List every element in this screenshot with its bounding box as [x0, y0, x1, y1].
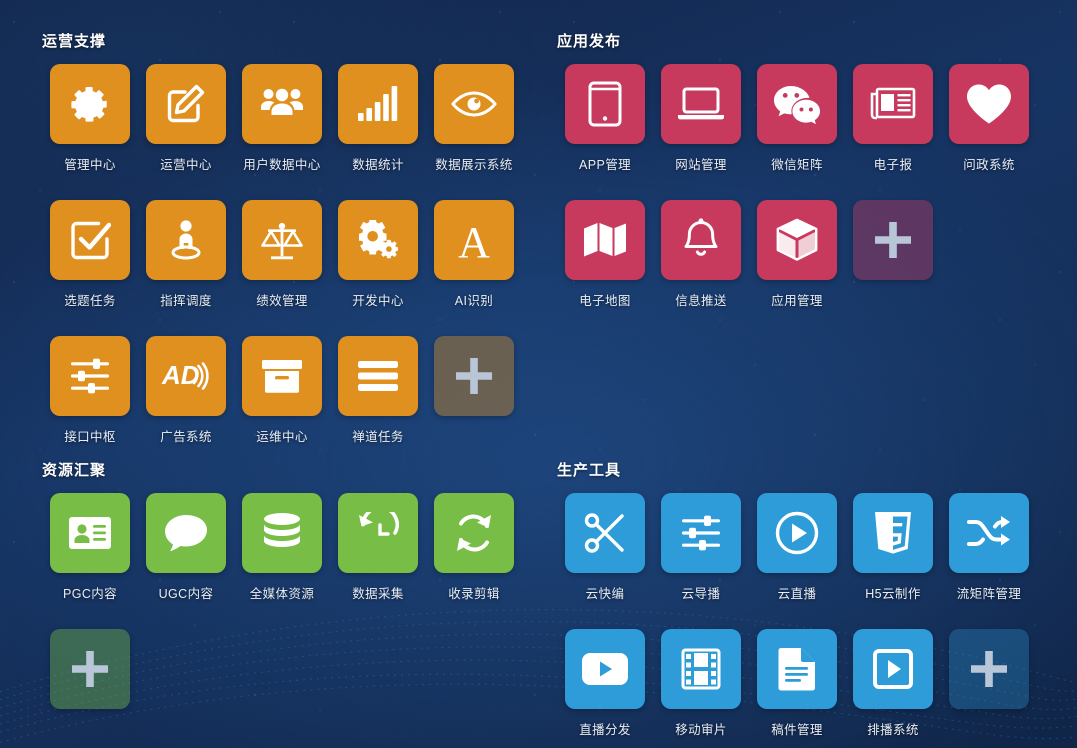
tile-icon-box[interactable] [242, 493, 322, 573]
play-square-icon [872, 648, 914, 690]
app-tile-稿件管理[interactable]: 稿件管理 [749, 629, 845, 738]
tile-icon-box[interactable] [242, 336, 322, 416]
tile-label: 流矩阵管理 [957, 583, 1022, 602]
tile-icon-box[interactable] [50, 629, 130, 709]
sliders-icon [680, 514, 722, 552]
tile-icon-box[interactable] [853, 493, 933, 573]
app-tile-信息推送[interactable]: 信息推送 [653, 200, 749, 309]
tile-icon-box[interactable] [949, 629, 1029, 709]
tile-icon-box[interactable] [757, 493, 837, 573]
tile-icon-box[interactable] [338, 336, 418, 416]
tile-label: 移动审片 [675, 719, 727, 738]
tile-icon-box[interactable] [146, 200, 226, 280]
balance-scale-icon [260, 220, 304, 260]
tile-icon-box[interactable] [50, 493, 130, 573]
tile-icon-box[interactable] [565, 493, 645, 573]
tile-icon-box[interactable] [338, 64, 418, 144]
section-operations-support: 运营支撑管理中心运营中心用户数据中心数据统计数据展示系统选题任务指挥调度绩效管理… [42, 30, 522, 472]
document-icon [778, 647, 816, 691]
eye-icon [451, 88, 497, 120]
users-group-icon [261, 85, 303, 123]
app-tile-流矩阵管理[interactable]: 流矩阵管理 [941, 493, 1037, 602]
tile-label: 选题任务 [64, 290, 116, 309]
tile-label: 微信矩阵 [771, 154, 823, 173]
app-tile-移动审片[interactable]: 移动审片 [653, 629, 749, 738]
app-tile-直播分发[interactable]: 直播分发 [557, 629, 653, 738]
svg-text:A: A [458, 218, 490, 264]
tile-label: AI识别 [455, 290, 493, 309]
person-location-icon [168, 219, 204, 261]
app-tile-禅道任务[interactable]: 禅道任务 [330, 336, 426, 445]
app-tile-add[interactable] [42, 629, 138, 709]
section-title: 资源汇聚 [42, 459, 522, 480]
tile-grid: APP管理网站管理微信矩阵电子报问政系统电子地图信息推送应用管理 [557, 64, 1037, 336]
section-app-publishing: 应用发布APP管理网站管理微信矩阵电子报问政系统电子地图信息推送应用管理 [557, 30, 1037, 336]
gear-icon [70, 84, 110, 124]
tile-icon-box[interactable] [949, 493, 1029, 573]
tile-icon-box[interactable] [434, 493, 514, 573]
app-tile-数据采集[interactable]: 数据采集 [330, 493, 426, 602]
tile-icon-box[interactable] [853, 200, 933, 280]
tile-icon-box[interactable] [853, 64, 933, 144]
tile-icon-box[interactable] [50, 64, 130, 144]
play-circle-icon [775, 511, 819, 555]
app-tile-微信矩阵[interactable]: 微信矩阵 [749, 64, 845, 173]
plus-icon [969, 649, 1009, 689]
sliders-icon [69, 357, 111, 395]
tile-icon-box[interactable] [661, 64, 741, 144]
tile-icon-box[interactable] [565, 629, 645, 709]
app-tile-广告系统[interactable]: AD广告系统 [138, 336, 234, 445]
app-tile-全媒体资源[interactable]: 全媒体资源 [234, 493, 330, 602]
app-tile-问政系统[interactable]: 问政系统 [941, 64, 1037, 173]
app-tile-应用管理[interactable]: 应用管理 [749, 200, 845, 309]
app-tile-UGC内容[interactable]: UGC内容 [138, 493, 234, 602]
tile-label: 应用管理 [771, 290, 823, 309]
menu-lines-icon [357, 360, 399, 392]
section-production-tools: 生产工具云快编云导播云直播H5云制作流矩阵管理直播分发移动审片稿件管理排播系统 [557, 459, 1037, 748]
heart-icon [966, 83, 1012, 125]
tile-icon-box[interactable] [434, 336, 514, 416]
html5-icon [874, 511, 912, 555]
check-square-icon [69, 219, 111, 261]
database-icon [262, 512, 302, 554]
tile-icon-box[interactable] [661, 493, 741, 573]
newspaper-icon [870, 87, 916, 121]
tile-label: 管理中心 [64, 154, 116, 173]
app-tile-云导播[interactable]: 云导播 [653, 493, 749, 602]
tile-label: 直播分发 [579, 719, 631, 738]
laptop-icon [677, 86, 725, 122]
film-strip-icon [681, 648, 721, 690]
scissors-icon [584, 512, 626, 554]
tile-icon-box[interactable] [338, 493, 418, 573]
tile-icon-box[interactable]: A [434, 200, 514, 280]
tile-label: 云快编 [586, 583, 625, 602]
svg-text:AD: AD [161, 361, 200, 390]
tile-label: 开发中心 [352, 290, 404, 309]
tile-icon-box[interactable] [338, 200, 418, 280]
sync-refresh-icon [453, 512, 495, 554]
app-tile-用户数据中心[interactable]: 用户数据中心 [234, 64, 330, 173]
tile-label: 接口中枢 [64, 426, 116, 445]
tile-icon-box[interactable] [757, 64, 837, 144]
tile-label: 收录剪辑 [448, 583, 500, 602]
tile-grid: 管理中心运营中心用户数据中心数据统计数据展示系统选题任务指挥调度绩效管理开发中心… [42, 64, 522, 472]
archive-box-icon [261, 357, 303, 395]
app-tile-数据展示系统[interactable]: 数据展示系统 [426, 64, 522, 173]
app-tile-运维中心[interactable]: 运维中心 [234, 336, 330, 445]
tile-label: PGC内容 [63, 583, 117, 602]
app-tile-网站管理[interactable]: 网站管理 [653, 64, 749, 173]
tile-label: 数据展示系统 [435, 154, 512, 173]
tile-label: APP管理 [579, 154, 631, 173]
tile-label: 禅道任务 [352, 426, 404, 445]
tile-label: 数据统计 [352, 154, 404, 173]
section-resource-aggregation: 资源汇聚PGC内容UGC内容全媒体资源数据采集收录剪辑 [42, 459, 522, 736]
plus-icon [454, 356, 494, 396]
app-tile-电子地图[interactable]: 电子地图 [557, 200, 653, 309]
tile-label: 全媒体资源 [250, 583, 315, 602]
edit-square-icon [165, 83, 207, 125]
tile-label: H5云制作 [865, 583, 920, 602]
tile-icon-box[interactable]: AD [146, 336, 226, 416]
bell-icon [681, 218, 721, 262]
tile-label: 用户数据中心 [243, 154, 320, 173]
tile-icon-box[interactable] [757, 200, 837, 280]
video-play-icon [581, 652, 629, 686]
app-tile-PGC内容[interactable]: PGC内容 [42, 493, 138, 602]
gears-icon [357, 220, 399, 260]
tile-icon-box[interactable] [242, 64, 322, 144]
plus-icon [70, 649, 110, 689]
app-tile-管理中心[interactable]: 管理中心 [42, 64, 138, 173]
section-title: 生产工具 [557, 459, 1037, 480]
tile-icon-box[interactable] [50, 336, 130, 416]
app-tile-收录剪辑[interactable]: 收录剪辑 [426, 493, 522, 602]
ad-icon: AD [161, 361, 211, 391]
app-tile-H5云制作[interactable]: H5云制作 [845, 493, 941, 602]
tile-icon-box[interactable] [50, 200, 130, 280]
shuffle-icon [967, 515, 1011, 551]
app-tile-排播系统[interactable]: 排播系统 [845, 629, 941, 738]
id-card-icon [68, 516, 112, 550]
app-tile-AI识别[interactable]: AAI识别 [426, 200, 522, 309]
tile-label: 绩效管理 [256, 290, 308, 309]
section-title: 应用发布 [557, 30, 1037, 51]
tile-label: 排播系统 [867, 719, 919, 738]
section-title: 运营支撑 [42, 30, 522, 51]
tile-icon-box[interactable] [434, 64, 514, 144]
tile-label: 运维中心 [256, 426, 308, 445]
app-tile-APP管理[interactable]: APP管理 [557, 64, 653, 173]
app-tile-接口中枢[interactable]: 接口中枢 [42, 336, 138, 445]
app-tile-add[interactable] [941, 629, 1037, 738]
app-tile-选题任务[interactable]: 选题任务 [42, 200, 138, 309]
tile-icon-box[interactable] [661, 629, 741, 709]
tile-icon-box[interactable] [565, 200, 645, 280]
app-tile-电子报[interactable]: 电子报 [845, 64, 941, 173]
app-tile-云直播[interactable]: 云直播 [749, 493, 845, 602]
map-icon [583, 222, 627, 258]
history-clock-icon [357, 512, 399, 554]
tile-label: 指挥调度 [160, 290, 212, 309]
tile-label: UGC内容 [159, 583, 214, 602]
tile-icon-box[interactable] [146, 64, 226, 144]
tile-label: 信息推送 [675, 290, 727, 309]
app-tile-数据统计[interactable]: 数据统计 [330, 64, 426, 173]
speech-bubble-icon [164, 513, 208, 553]
app-tile-运营中心[interactable]: 运营中心 [138, 64, 234, 173]
app-tile-add[interactable] [845, 200, 941, 309]
cube-icon [776, 218, 818, 262]
tile-icon-box[interactable] [242, 200, 322, 280]
tile-label: 电子报 [874, 154, 913, 173]
tile-icon-box[interactable] [757, 629, 837, 709]
tile-grid: PGC内容UGC内容全媒体资源数据采集收录剪辑 [42, 493, 522, 736]
tile-icon-box[interactable] [146, 493, 226, 573]
tile-icon-box[interactable] [565, 64, 645, 144]
tile-label: 云直播 [778, 583, 817, 602]
tile-label: 云导播 [682, 583, 721, 602]
app-tile-云快编[interactable]: 云快编 [557, 493, 653, 602]
tile-label: 广告系统 [160, 426, 212, 445]
tablet-icon [588, 81, 622, 127]
app-tile-开发中心[interactable]: 开发中心 [330, 200, 426, 309]
letter-a-icon: A [453, 216, 495, 264]
tile-label: 运营中心 [160, 154, 212, 173]
tile-icon-box[interactable] [949, 64, 1029, 144]
bar-chart-icon [357, 85, 399, 123]
tile-icon-box[interactable] [661, 200, 741, 280]
plus-icon [873, 220, 913, 260]
tile-label: 电子地图 [579, 290, 631, 309]
app-tile-指挥调度[interactable]: 指挥调度 [138, 200, 234, 309]
tile-label: 数据采集 [352, 583, 404, 602]
app-tile-绩效管理[interactable]: 绩效管理 [234, 200, 330, 309]
wechat-icon [773, 84, 821, 124]
tile-label: 问政系统 [963, 154, 1015, 173]
tile-grid: 云快编云导播云直播H5云制作流矩阵管理直播分发移动审片稿件管理排播系统 [557, 493, 1037, 748]
tile-label: 稿件管理 [771, 719, 823, 738]
tile-label: 网站管理 [675, 154, 727, 173]
tile-icon-box[interactable] [853, 629, 933, 709]
app-tile-add[interactable] [426, 336, 522, 445]
